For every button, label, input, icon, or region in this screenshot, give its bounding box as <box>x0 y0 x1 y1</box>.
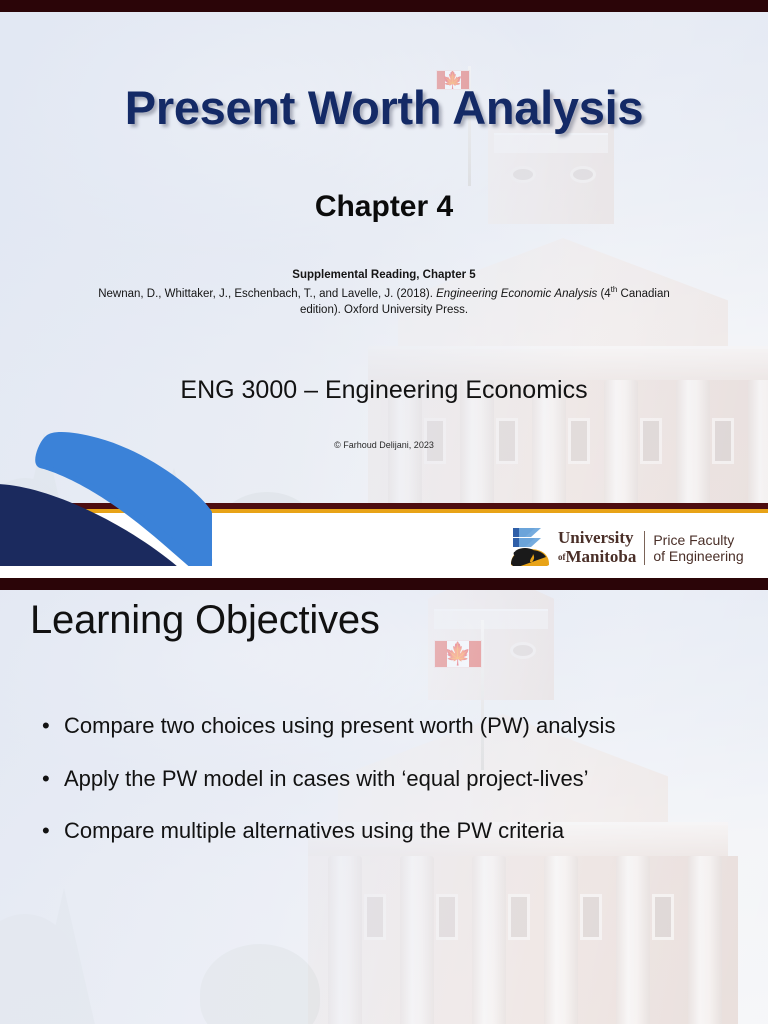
bullet-glyph-icon: • <box>42 712 64 740</box>
slide-separator-rule <box>0 578 768 590</box>
bison-crest-icon <box>509 524 551 572</box>
bullet-glyph-icon: • <box>42 765 64 793</box>
course-title: ENG 3000 – Engineering Economics <box>0 376 768 405</box>
university-wordmark: University ofManitoba <box>558 529 636 566</box>
logo-wordmark: University ofManitoba Price Faculty of E… <box>558 529 744 566</box>
citation-authors: Newnan, D., Whittaker, J., Eschenbach, T… <box>98 288 436 300</box>
objective-text: Compare multiple alternatives using the … <box>64 817 564 845</box>
list-item: • Apply the PW model in cases with ‘equa… <box>42 765 732 793</box>
copyright-notice: © Farhoud Delijani, 2023 <box>0 440 768 450</box>
title-slide: 🍁 Present Worth Analysis Chapter 4 Suppl… <box>0 12 768 578</box>
objective-text: Apply the PW model in cases with ‘equal … <box>64 765 589 793</box>
faculty-wordmark: Price Faculty of Engineering <box>653 532 743 564</box>
bullet-glyph-icon: • <box>42 817 64 845</box>
citation-edition-pre: (4 <box>597 288 610 300</box>
logo-of-word: of <box>558 552 566 562</box>
learning-objectives-slide: 🍁 Learning Objectives • Compare two choi… <box>0 590 768 1024</box>
citation-title-part2: Analysis <box>554 288 597 300</box>
slide-gap <box>0 566 768 578</box>
list-item: • Compare multiple alternatives using th… <box>42 817 732 845</box>
list-item: • Compare two choices using present wort… <box>42 712 732 740</box>
objectives-list: • Compare two choices using present wort… <box>42 712 732 870</box>
logo-university-line: University <box>558 528 634 547</box>
slide-deck-page: 🍁 Present Worth Analysis Chapter 4 Suppl… <box>0 0 768 1024</box>
faculty-line-1: Price Faculty <box>653 532 734 548</box>
university-logo: University ofManitoba Price Faculty of E… <box>509 524 744 572</box>
logo-manitoba-line: Manitoba <box>566 547 637 566</box>
chapter-label: Chapter 4 <box>0 190 768 224</box>
faculty-line-2: of Engineering <box>653 548 743 564</box>
reading-heading: Supplemental Reading, Chapter 5 <box>84 268 684 284</box>
page-title: Present Worth Analysis <box>0 80 768 135</box>
objective-text: Compare two choices using present worth … <box>64 712 615 740</box>
section-heading: Learning Objectives <box>30 598 380 643</box>
logo-divider <box>644 531 645 565</box>
citation-title-part1: Engineering Economic <box>436 288 551 300</box>
top-maroon-rule <box>0 0 768 12</box>
supplemental-reading-block: Supplemental Reading, Chapter 5 Newnan, … <box>84 268 684 318</box>
